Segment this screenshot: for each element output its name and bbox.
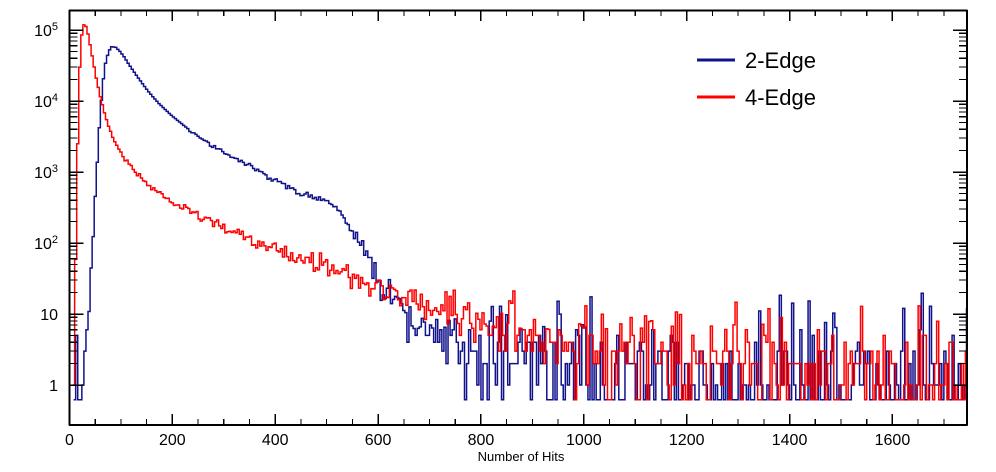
y-tick-label: 1 <box>49 378 58 395</box>
x-tick-label: 1000 <box>566 432 602 449</box>
x-tick-label: 1200 <box>669 432 705 449</box>
x-axis-title: Number of Hits <box>478 449 565 464</box>
plot-canvas: 110102103104105 020040060080010001200140… <box>0 0 996 472</box>
figure-background <box>0 0 996 472</box>
x-tick-label: 600 <box>365 432 392 449</box>
x-tick-label: 400 <box>262 432 289 449</box>
legend-label-4-edge: 4-Edge <box>745 85 816 110</box>
x-tick-label: 1600 <box>875 432 911 449</box>
histogram-figure: 110102103104105 020040060080010001200140… <box>0 0 996 472</box>
x-tick-label: 200 <box>159 432 186 449</box>
legend-label-2-edge: 2-Edge <box>745 48 816 73</box>
y-tick-label: 10 <box>40 307 58 324</box>
x-tick-label: 0 <box>65 432 74 449</box>
x-tick-label: 1400 <box>772 432 808 449</box>
x-tick-label: 800 <box>468 432 495 449</box>
